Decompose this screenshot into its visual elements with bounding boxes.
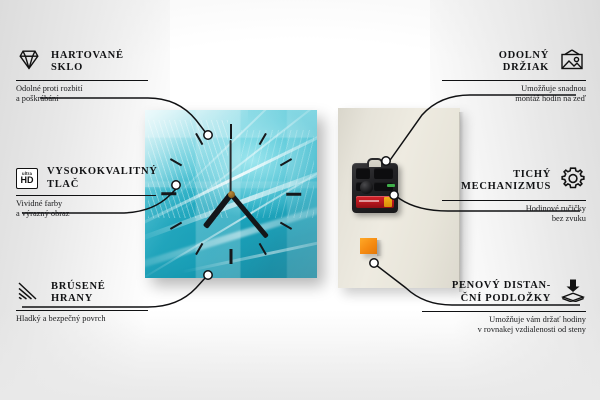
ground-edges-icon — [16, 280, 42, 306]
feature-divider — [16, 80, 148, 81]
feature-divider — [16, 310, 148, 311]
clock-tick — [195, 133, 203, 145]
feature-title: PENOVÝ DISTAN- ČNÍ PODLOŽKY — [452, 280, 551, 305]
feature-high-quality-print: ultra HD VYSOKOKVALITNÝ TLAČ Vividné far… — [16, 166, 164, 219]
feature-durable-hanger: ODOLNÝ DRŽIAK Umožňuje snadnou montáž ho… — [434, 48, 586, 104]
feature-divider — [422, 311, 586, 312]
mechanism-indicator — [387, 184, 395, 187]
clock-tick — [195, 243, 203, 255]
glass-clock-front — [145, 110, 317, 278]
clock-tick — [280, 222, 292, 230]
feature-subtitle: Hladký a bezpečný povrch — [16, 314, 156, 324]
feature-title: VYSOKOKVALITNÝ TLAČ — [47, 166, 158, 191]
foam-spacer-pad — [360, 238, 377, 254]
mechanism-slot — [356, 168, 370, 179]
foam-pad-arrow-icon — [560, 278, 586, 307]
feature-subtitle: Umožňuje snadnou montáž hodin na zeď — [434, 84, 586, 104]
clock-second-hand — [230, 140, 232, 198]
clock-tick — [286, 193, 301, 196]
clock-mechanism — [352, 163, 398, 213]
clock-tick — [170, 158, 182, 166]
wall-hanger — [367, 158, 383, 167]
feature-tempered-glass: HARTOVANÉ SKLO Odolné proti rozbití a po… — [16, 48, 156, 104]
feature-foam-spacers: PENOVÝ DISTAN- ČNÍ PODLOŽKY Umožňuje vám… — [414, 278, 586, 335]
picture-hanger-icon — [558, 48, 586, 76]
feature-divider — [16, 195, 156, 196]
mechanism-slot — [374, 168, 393, 179]
battery — [356, 196, 394, 208]
feature-title: BRÚSENÉ HRANY — [51, 281, 106, 306]
feature-divider — [442, 200, 586, 201]
gear-icon — [560, 166, 586, 196]
clock-tick — [230, 124, 233, 139]
feature-subtitle: Vividné farby a výrazný obraz — [16, 199, 164, 219]
feature-subtitle: Hodinové ručičky bez zvuku — [434, 204, 586, 224]
feature-ground-edges: BRÚSENÉ HRANY Hladký a bezpečný povrch — [16, 280, 156, 324]
diamond-icon — [16, 48, 42, 76]
battery-stripe — [359, 200, 379, 202]
clock-tick — [259, 243, 267, 255]
ultra-hd-icon-main-text: HD — [21, 176, 34, 185]
feature-subtitle: Umožňuje vám držať hodiny v rovnakej vzd… — [414, 315, 586, 335]
clock-tick — [259, 133, 267, 145]
clock-tick — [280, 158, 292, 166]
product-feature-infographic: HARTOVANÉ SKLO Odolné proti rozbití a po… — [0, 0, 600, 400]
feature-title: TICHÝ MECHANIZMUS — [461, 169, 551, 194]
feature-title: ODOLNÝ DRŽIAK — [499, 50, 549, 75]
ultra-hd-icon: ultra HD — [16, 168, 38, 189]
product-photo-group — [145, 100, 465, 280]
feature-divider — [442, 80, 586, 81]
feature-subtitle: Odolné proti rozbití a poškrábání — [16, 84, 156, 104]
clock-center-hub — [228, 191, 235, 198]
clock-tick — [230, 249, 233, 264]
feature-silent-mechanism: TICHÝ MECHANIZMUS Hodinové ručičky bez z… — [434, 166, 586, 224]
clock-tick — [170, 222, 182, 230]
mechanism-dial — [360, 181, 373, 194]
feature-title: HARTOVANÉ SKLO — [51, 50, 124, 75]
